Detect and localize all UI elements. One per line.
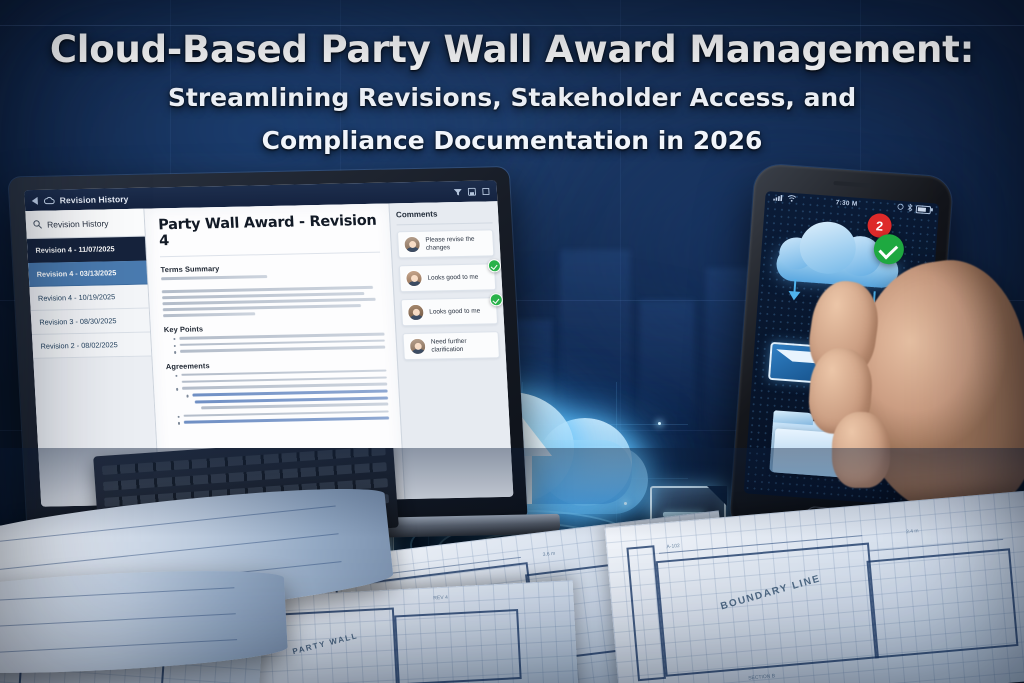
- share-icon[interactable]: [481, 182, 490, 200]
- text-line: [201, 402, 388, 409]
- title-line-2: Streamlining Revisions, Stakeholder Acce…: [0, 80, 1024, 116]
- bullet-dot: [173, 338, 176, 340]
- document-section-heading: Key Points: [164, 320, 385, 334]
- poster-title-block: Cloud-Based Party Wall Award Management:…: [0, 28, 1024, 159]
- title-line-1: Cloud-Based Party Wall Award Management:: [0, 28, 1024, 72]
- avatar: [409, 338, 427, 355]
- divider: [397, 222, 493, 225]
- list-item: [178, 417, 389, 425]
- revision-list-item[interactable]: Revision 4 - 11/07/2025: [27, 237, 146, 263]
- revision-list-item[interactable]: Revision 4 - 03/13/2025: [28, 261, 147, 287]
- save-disk-icon[interactable]: [467, 182, 476, 200]
- avatar: [403, 236, 421, 253]
- comment-item[interactable]: Looks good to me: [399, 263, 496, 292]
- text-line: [163, 304, 361, 311]
- bullet-list: [164, 332, 385, 354]
- comment-item[interactable]: Please revise the changes: [397, 229, 494, 258]
- approved-check-icon: [489, 293, 503, 306]
- background-hairline: [0, 25, 1024, 26]
- app-bar-actions: [453, 182, 490, 201]
- sidebar-header: Revision History: [25, 209, 145, 239]
- text-line: [180, 339, 385, 346]
- filter-icon[interactable]: [453, 183, 462, 201]
- document-section-heading: Agreements: [166, 357, 387, 371]
- comments-header: Comments: [396, 208, 493, 219]
- text-link-line[interactable]: [184, 417, 389, 424]
- phone-speaker: [833, 181, 873, 188]
- text-line: [184, 410, 389, 417]
- text-line: [161, 275, 267, 280]
- bullet-dot: [176, 388, 179, 390]
- cloud-icon: [43, 191, 55, 209]
- bullet-dot: [174, 351, 177, 353]
- bullet-dot: [178, 415, 181, 417]
- text-line: [182, 376, 387, 383]
- document-section-heading: Terms Summary: [160, 261, 381, 275]
- revision-list-item[interactable]: Revision 2 - 08/02/2025: [32, 332, 151, 358]
- comment-text: Looks good to me: [429, 307, 480, 316]
- approved-check-icon: [488, 259, 502, 272]
- text-link-line[interactable]: [193, 390, 388, 397]
- document-heading: Party Wall Award - Revision 4: [158, 213, 380, 250]
- sidebar-title: Revision History: [47, 218, 109, 229]
- text-line: [182, 369, 387, 376]
- battery-icon: [916, 205, 932, 214]
- bullet-dot: [175, 375, 178, 377]
- bullet-list: [166, 369, 389, 424]
- search-icon[interactable]: [33, 215, 43, 233]
- comment-text: Please revise the changes: [425, 235, 488, 252]
- text-line: [163, 313, 256, 318]
- text-line: [182, 383, 387, 390]
- bullet-dot: [178, 422, 181, 424]
- comment-text: Looks good to me: [427, 273, 478, 282]
- text-line: [180, 346, 385, 353]
- bullet-dot: [174, 345, 177, 347]
- revision-list-item[interactable]: Revision 4 - 10/19/2025: [29, 285, 148, 311]
- avatar: [407, 304, 425, 321]
- app-bar-title: Revision History: [59, 193, 128, 204]
- avatar: [405, 270, 423, 287]
- blueprint-drawings: 1:50 3.6 m BOUNDARY LINE A-102 2.4 m SEC…: [0, 448, 1024, 683]
- title-line-3: Compliance Documentation in 2026: [0, 123, 1024, 159]
- list-item: [177, 402, 388, 409]
- divider: [160, 252, 380, 258]
- back-arrow-icon[interactable]: [31, 191, 39, 209]
- comment-text: Need further clarification: [431, 337, 494, 354]
- comment-item[interactable]: Looks good to me: [401, 297, 498, 326]
- comment-item[interactable]: Need further clarification: [402, 331, 499, 360]
- revision-list-item[interactable]: Revision 3 - 08/30/2025: [31, 309, 150, 335]
- text-line: [180, 332, 385, 339]
- bullet-dot: [186, 395, 189, 397]
- poster-canvas: Cloud-Based Party Wall Award Management:…: [0, 0, 1024, 683]
- list-item: [174, 346, 385, 354]
